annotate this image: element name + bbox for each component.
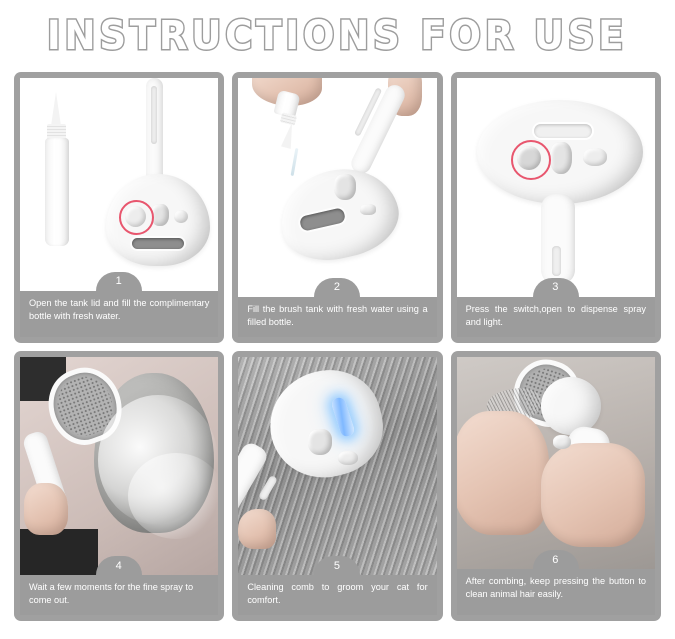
step-panel-5: 5 Cleaning comb to groom your cat for co… bbox=[232, 351, 442, 622]
left-hand bbox=[457, 411, 549, 535]
step-2-photo: 2 bbox=[238, 78, 436, 297]
step-caption-2: Fill the brush tank with fresh water usi… bbox=[238, 297, 436, 337]
device-side-button bbox=[360, 204, 376, 215]
step-5-photo: 5 bbox=[238, 357, 436, 576]
spray-mist bbox=[128, 453, 218, 539]
step-number-badge-2: 2 bbox=[314, 278, 360, 297]
step-1-photo: 1 bbox=[20, 78, 218, 291]
page-title: INSTRUCTIONS FOR USE bbox=[47, 13, 627, 59]
highlight-ring-tank-lid bbox=[119, 200, 154, 235]
tank-window bbox=[132, 238, 184, 249]
bottle-body bbox=[45, 138, 69, 246]
hair-release-button bbox=[553, 435, 571, 449]
water-stream bbox=[291, 148, 299, 176]
step-number-badge-3: 3 bbox=[533, 278, 579, 297]
step-4-photo: 4 bbox=[20, 357, 218, 576]
device-handle-slot bbox=[151, 86, 157, 144]
highlight-ring-power-switch bbox=[511, 140, 551, 180]
finger bbox=[238, 509, 276, 549]
bottle-nozzle-tip bbox=[281, 121, 297, 149]
device-side-button bbox=[338, 451, 358, 465]
device-side-button bbox=[583, 148, 607, 166]
step-caption-5: Cleaning comb to groom your cat for comf… bbox=[238, 575, 436, 615]
dark-foreground bbox=[20, 529, 98, 575]
step-caption-1: Open the tank lid and fill the complimen… bbox=[20, 291, 218, 337]
step-caption-6: After combing, keep pressing the button … bbox=[457, 569, 655, 615]
step-panel-6: 6 After combing, keep pressing the butto… bbox=[451, 351, 661, 622]
step-panel-2: 2 Fill the brush tank with fresh water u… bbox=[232, 72, 442, 343]
device-base bbox=[541, 377, 601, 435]
bottle-neck bbox=[47, 124, 66, 139]
device-nozzle-knob bbox=[308, 429, 332, 455]
hand-holding-device bbox=[24, 483, 68, 535]
instruction-steps-grid: 1 Open the tank lid and fill the complim… bbox=[0, 72, 675, 627]
page-header: INSTRUCTIONS FOR USE bbox=[0, 0, 675, 72]
step-number-badge-1: 1 bbox=[96, 272, 142, 291]
tank-opening-knob bbox=[334, 174, 356, 200]
right-hand bbox=[541, 443, 645, 547]
device-handle-slot bbox=[552, 246, 561, 276]
device-side-button bbox=[174, 210, 188, 223]
device-nozzle-knob bbox=[550, 142, 572, 174]
step-panel-1: 1 Open the tank lid and fill the complim… bbox=[14, 72, 224, 343]
step-caption-4: Wait a few moments for the fine spray to… bbox=[20, 575, 218, 615]
step-panel-4: 4 Wait a few moments for the fine spray … bbox=[14, 351, 224, 622]
tank-window bbox=[534, 124, 592, 138]
step-3-photo: 3 bbox=[457, 78, 655, 297]
step-6-photo: 6 bbox=[457, 357, 655, 570]
step-panel-3: 3 Press the switch,open to dispense spra… bbox=[451, 72, 661, 343]
bottle-nozzle-tip bbox=[51, 92, 61, 126]
step-caption-3: Press the switch,open to dispense spray … bbox=[457, 297, 655, 337]
